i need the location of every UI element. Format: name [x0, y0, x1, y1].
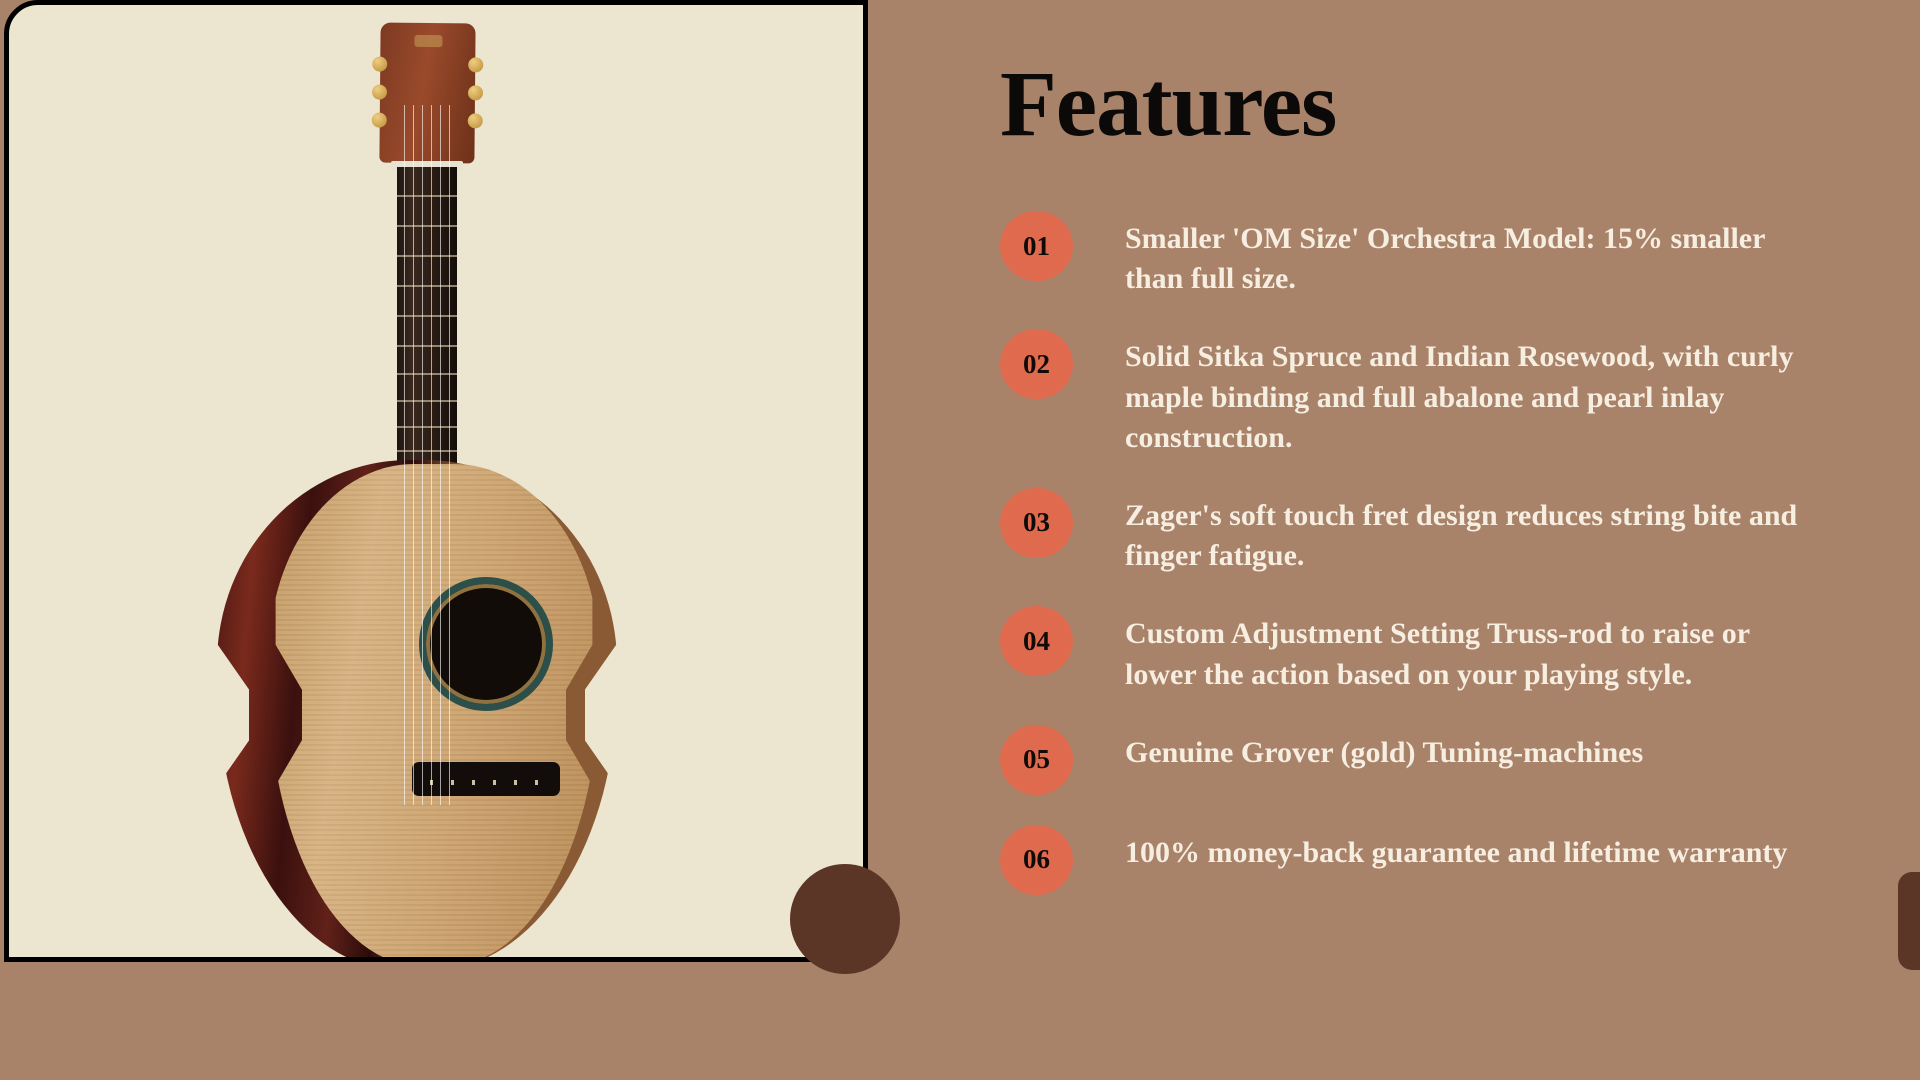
feature-item-05: 05 Genuine Grover (gold) Tuning-machines — [1000, 725, 1920, 795]
tuning-peg — [372, 85, 387, 100]
tuning-peg — [468, 113, 483, 128]
feature-number-badge: 04 — [1000, 606, 1073, 676]
guitar-illustration — [9, 5, 863, 957]
feature-text: Smaller 'OM Size' Orchestra Model: 15% s… — [1125, 211, 1825, 299]
feature-item-02: 02 Solid Sitka Spruce and Indian Rosewoo… — [1000, 329, 1920, 458]
accent-circle — [790, 864, 900, 974]
feature-text: 100% money-back guarantee and lifetime w… — [1125, 825, 1787, 873]
feature-text: Zager's soft touch fret design reduces s… — [1125, 488, 1825, 576]
feature-item-04: 04 Custom Adjustment Setting Truss-rod t… — [1000, 606, 1920, 694]
tuning-peg — [372, 113, 387, 128]
product-image-panel — [4, 0, 868, 962]
feature-number-badge: 03 — [1000, 488, 1073, 558]
features-section: Features 01 Smaller 'OM Size' Orchestra … — [1000, 0, 1920, 1080]
tuning-peg — [468, 57, 483, 72]
feature-number-badge: 01 — [1000, 211, 1073, 281]
feature-number-badge: 02 — [1000, 329, 1073, 399]
feature-text: Custom Adjustment Setting Truss-rod to r… — [1125, 606, 1825, 694]
feature-item-06: 06 100% money-back guarantee and lifetim… — [1000, 825, 1920, 895]
feature-item-01: 01 Smaller 'OM Size' Orchestra Model: 15… — [1000, 211, 1920, 299]
page-title: Features — [1000, 58, 1920, 151]
feature-number-badge: 06 — [1000, 825, 1073, 895]
feature-text: Genuine Grover (gold) Tuning-machines — [1125, 725, 1643, 773]
tuning-peg — [372, 57, 387, 72]
feature-item-03: 03 Zager's soft touch fret design reduce… — [1000, 488, 1920, 576]
tuning-peg — [468, 85, 483, 100]
guitar-strings — [404, 105, 450, 805]
feature-text: Solid Sitka Spruce and Indian Rosewood, … — [1125, 329, 1825, 458]
features-list: 01 Smaller 'OM Size' Orchestra Model: 15… — [1000, 211, 1920, 925]
feature-number-badge: 05 — [1000, 725, 1073, 795]
